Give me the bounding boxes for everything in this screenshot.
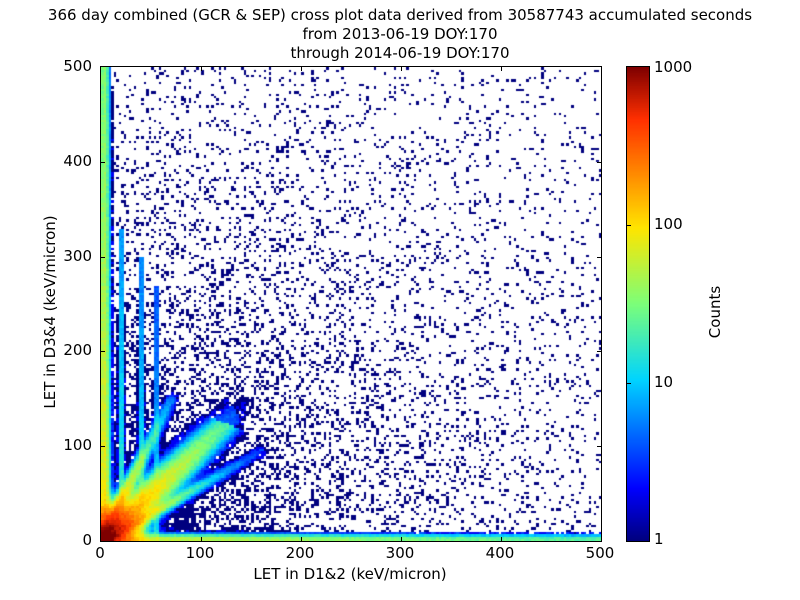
- x-tick-mark-top: [301, 67, 302, 71]
- colorbar-label: Counts: [706, 222, 724, 402]
- figure-canvas: 366 day combined (GCR & SEP) cross plot …: [0, 0, 800, 600]
- y-tick-label: 0: [0, 531, 92, 549]
- x-tick-mark-top: [201, 67, 202, 71]
- colorbar-tick-mark: [627, 225, 631, 226]
- y-tick-mark: [101, 162, 105, 163]
- x-tick-mark-top: [401, 67, 402, 71]
- y-tick-label: 500: [0, 57, 92, 75]
- x-tick-label: 200: [286, 544, 315, 562]
- colorbar-tick-label: 1: [654, 530, 664, 548]
- x-tick-label: 500: [586, 544, 615, 562]
- colorbar: [626, 66, 650, 542]
- x-tick-mark-top: [501, 67, 502, 71]
- x-tick-label: 100: [186, 544, 215, 562]
- x-tick-mark: [501, 537, 502, 541]
- y-tick-mark: [101, 446, 105, 447]
- density-heatmap: [101, 67, 601, 541]
- x-axis-label: LET in D1&2 (keV/micron): [100, 565, 600, 583]
- x-tick-mark: [201, 537, 202, 541]
- y-tick-mark: [101, 351, 105, 352]
- title-line-2: from 2013-06-19 DOY:170: [0, 25, 800, 44]
- title-line-1: 366 day combined (GCR & SEP) cross plot …: [0, 6, 800, 25]
- y-tick-mark-right: [597, 162, 601, 163]
- colorbar-tick-label: 100: [654, 215, 683, 233]
- y-tick-mark-right: [597, 351, 601, 352]
- x-tick-label: 0: [95, 544, 105, 562]
- x-tick-mark: [301, 537, 302, 541]
- plot-title: 366 day combined (GCR & SEP) cross plot …: [0, 6, 800, 63]
- y-tick-mark: [101, 257, 105, 258]
- colorbar-gradient: [627, 67, 649, 541]
- y-tick-mark-right: [597, 257, 601, 258]
- x-tick-label: 300: [386, 544, 415, 562]
- plot-axes: [100, 66, 602, 542]
- colorbar-tick-label: 10: [654, 373, 673, 391]
- y-axis-label: LET in D3&4 (keV/micron): [41, 147, 59, 477]
- y-tick-mark-right: [597, 446, 601, 447]
- colorbar-tick-label: 1000: [654, 58, 692, 76]
- x-tick-label: 400: [486, 544, 515, 562]
- x-tick-mark: [401, 537, 402, 541]
- colorbar-tick-mark: [627, 383, 631, 384]
